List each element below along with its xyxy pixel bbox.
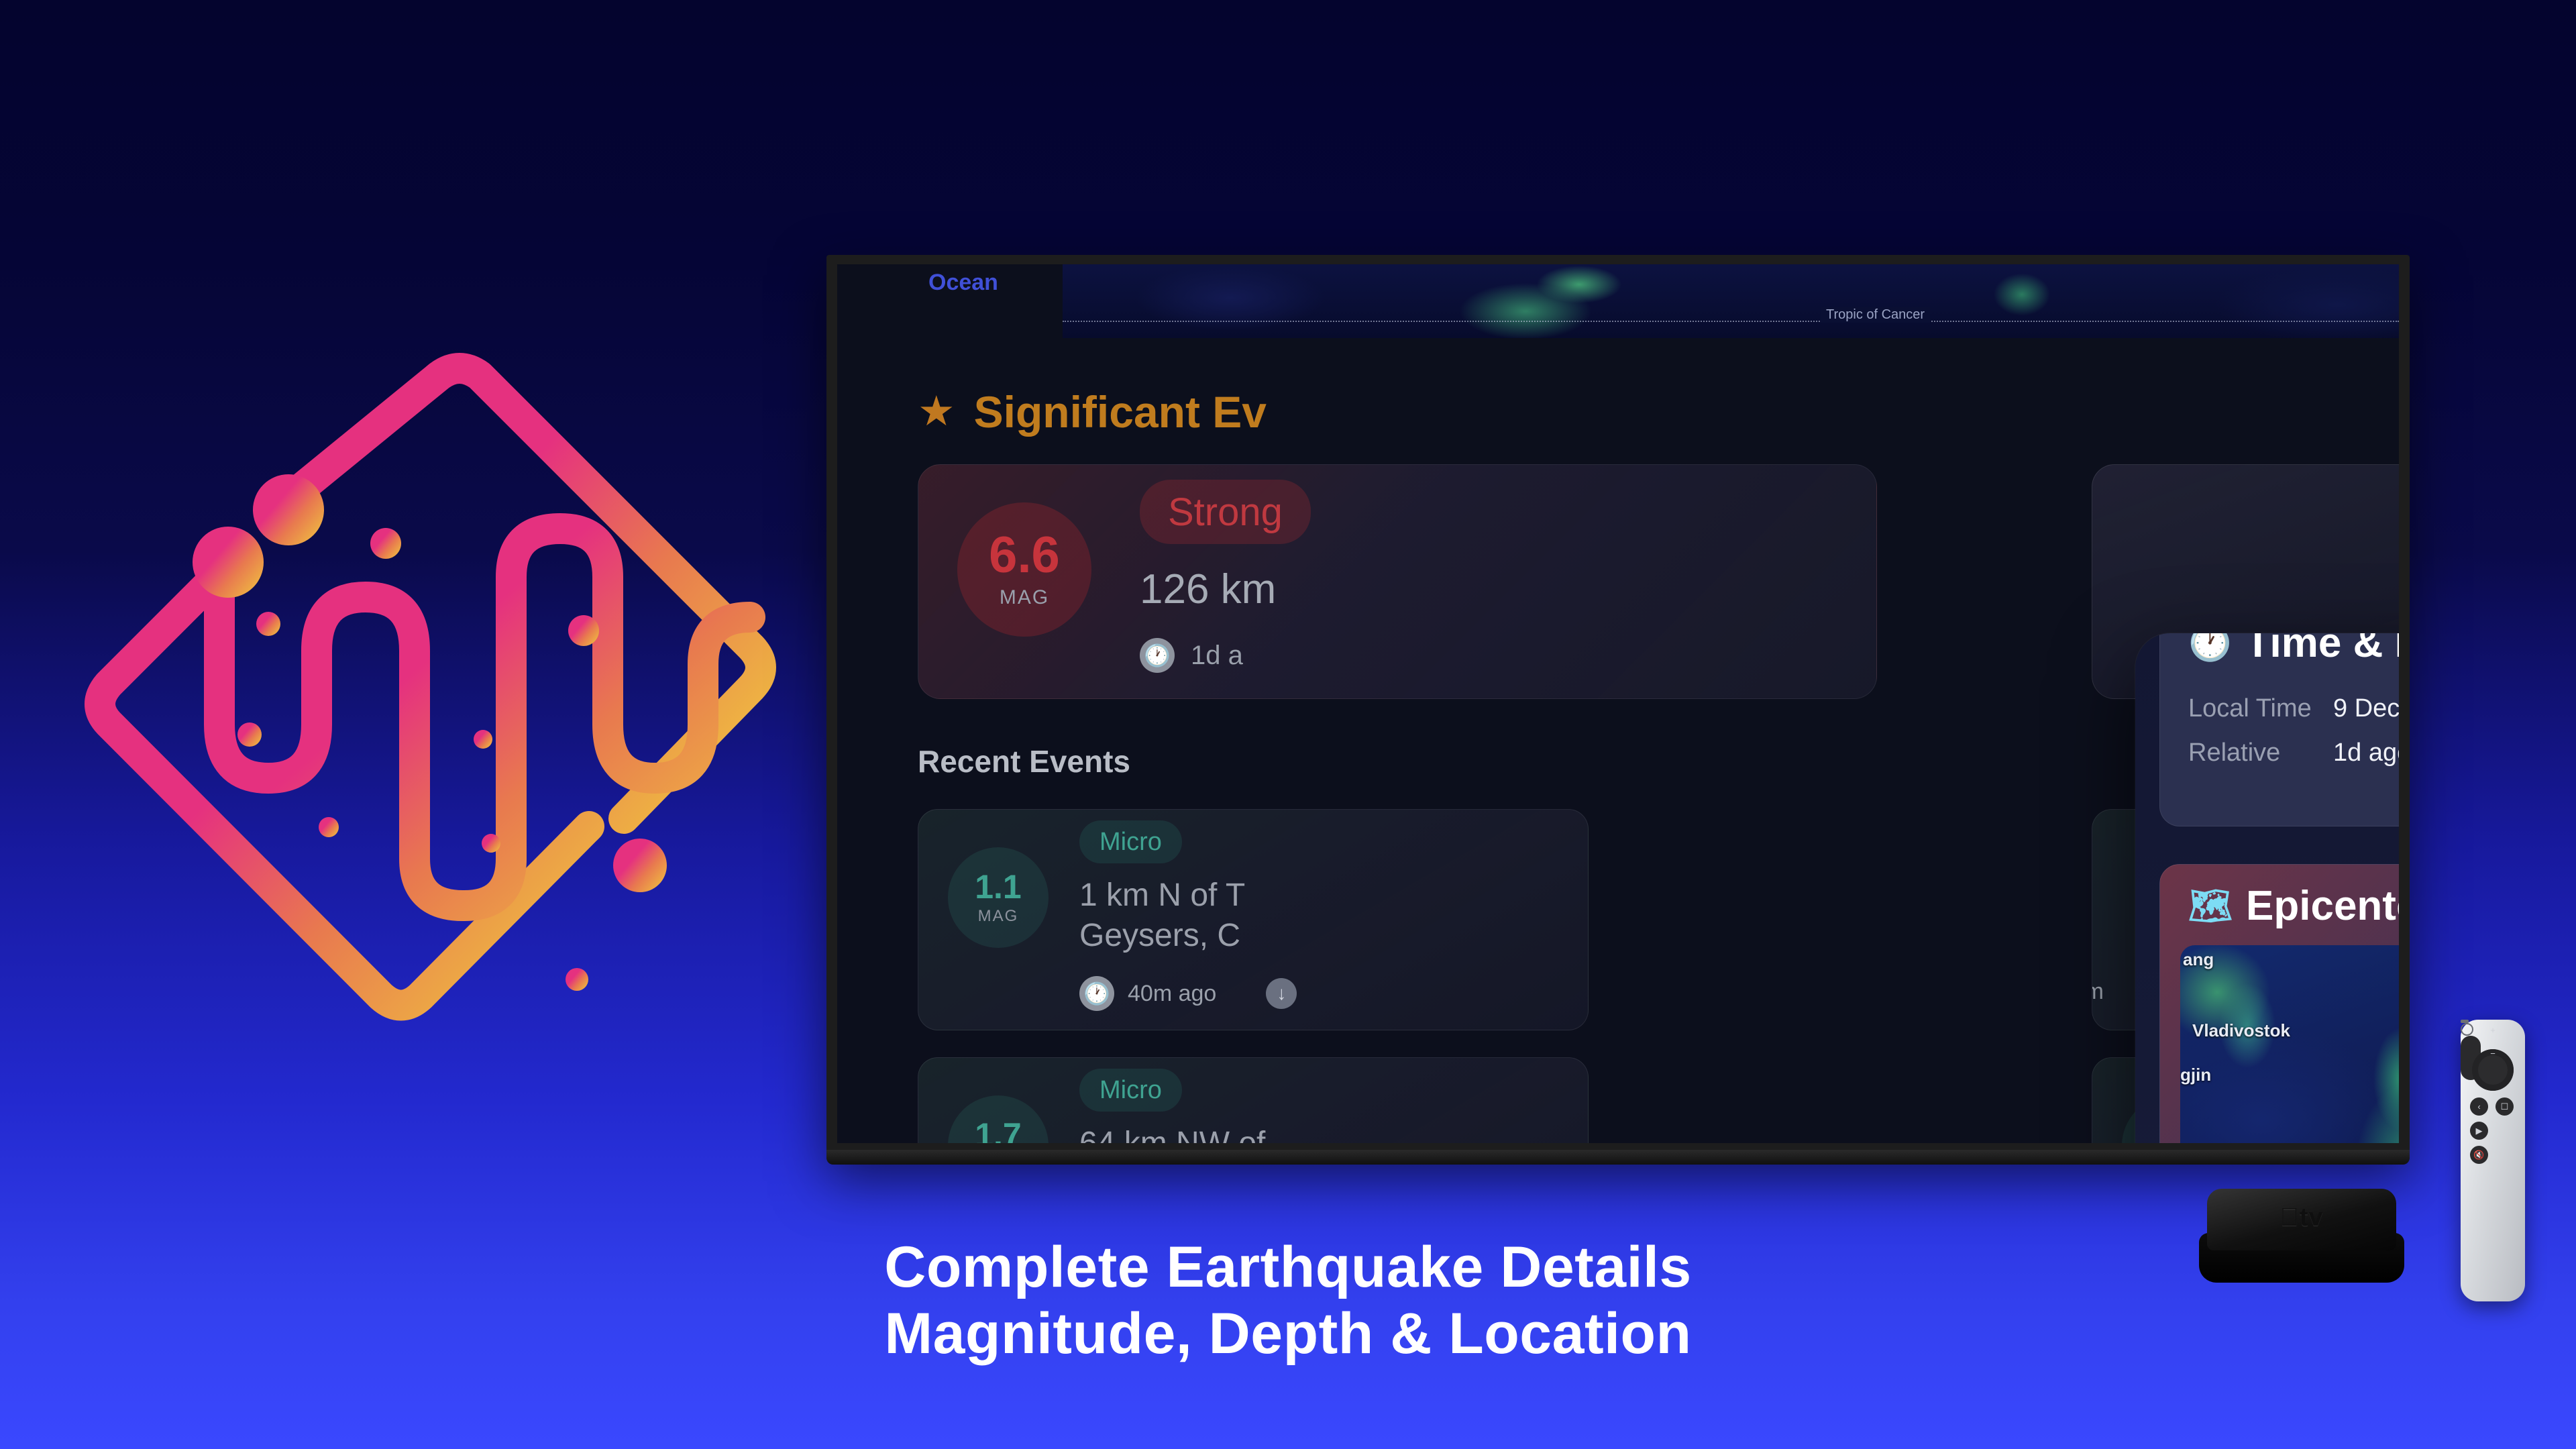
play-pause-button[interactable]: ▶ <box>2470 1122 2488 1140</box>
star-icon: ★ <box>918 391 955 433</box>
recent-events-heading: Recent Events <box>918 743 1130 780</box>
map-label-ang: ang <box>2183 949 2214 970</box>
list-item[interactable]: 1.1 MAG Micro 1 km N of T Geysers, C 🕐 4… <box>918 809 1589 1030</box>
severity-badge: Micro <box>1079 820 1182 863</box>
severity-badge: Micro <box>1079 1069 1182 1112</box>
promo-caption: Complete Earthquake Details Magnitude, D… <box>0 1234 2576 1367</box>
magnitude-bubble: 1.7 MAG <box>948 1095 1049 1143</box>
tv-frame: Ocean Tropic of Cancer ★ Significant Ev … <box>826 255 2410 1161</box>
event-location: 64 km NW of <box>1079 1124 1574 1143</box>
relative-key: Relative <box>2188 739 2333 767</box>
ocean-label: Ocean <box>928 270 998 296</box>
tv-bottom-bezel <box>826 1150 2410 1165</box>
significant-events-header: ★ Significant Ev <box>918 386 1267 437</box>
tv-screen: Ocean Tropic of Cancer ★ Significant Ev … <box>837 264 2399 1143</box>
magnitude-label: MAG <box>1000 586 1049 609</box>
mute-button[interactable]: 🔇 <box>2470 1146 2488 1164</box>
significant-event-card[interactable]: 6.6 MAG Strong 126 km 🕐 1d a <box>918 464 1877 699</box>
event-meta: ↓ 40.2 km <box>2092 976 2104 1007</box>
list-item[interactable]: 1.7 MAG Micro 64 km NW of <box>918 1057 1589 1143</box>
clock-icon: 🕐 <box>2188 633 2232 661</box>
magnitude-value: 6.6 <box>989 530 1060 581</box>
tropic-of-cancer-line <box>1063 321 2399 322</box>
caption-line-2: Magnitude, Depth & Location <box>0 1301 2576 1367</box>
back-button[interactable]: ‹ <box>2470 1097 2488 1116</box>
depth-arrow-icon: ↓ <box>1266 978 1297 1009</box>
clock-icon: 🕐 <box>1140 638 1175 673</box>
magnitude-bubble: 1.1 MAG <box>948 847 1049 948</box>
local-time-row: Local Time 9 Dec 2025 at 04:52:41 <box>2188 694 2399 723</box>
apple-tv-wordmark: tv <box>2300 1203 2324 1232</box>
clock-icon: 🕐 <box>1079 976 1114 1011</box>
event-meta: 🕐 40m ago ↓ <box>1079 976 1297 1011</box>
caption-line-1: Complete Earthquake Details <box>0 1234 2576 1301</box>
map-label-gjin: gjin <box>2180 1065 2211 1085</box>
card-title: Time & Date <box>2245 633 2399 667</box>
epicenter-title-row: 🗺 Epicenter <box>2188 882 2399 930</box>
world-map-strip: Ocean Tropic of Cancer <box>1063 264 2399 338</box>
map-icon: 🗺 <box>2188 889 2233 924</box>
relative-time-row: Relative 1d ago <box>2188 739 2399 767</box>
apple-tv-box: tv <box>2199 1189 2404 1285</box>
event-location: 1 km N of T Geysers, C <box>1079 875 1574 956</box>
tropic-of-cancer-label: Tropic of Cancer <box>1821 307 1930 323</box>
tv-home-button[interactable]: ☐ <box>2495 1097 2514 1116</box>
event-time-ago: 1d a <box>1191 641 1243 671</box>
app-logo <box>67 349 792 1073</box>
apple-tv-logo: tv <box>2199 1203 2404 1232</box>
significant-events-title: Significant Ev <box>974 386 1267 437</box>
epicenter-map[interactable]: ang Vladivostok gjin Sapporo Vityaz Dept… <box>2180 945 2399 1143</box>
earthquake-detail-modal[interactable]: 🕐 Time & Date Local Time 9 Dec 2025 at 0… <box>2135 633 2399 1143</box>
event-location: 126 km <box>1140 566 1276 613</box>
magnitude-value: 1.1 <box>975 870 1022 904</box>
magnitude-label: MAG <box>978 907 1019 926</box>
magnitude-bubble: 6.6 MAG <box>957 502 1091 637</box>
local-time-key: Local Time <box>2188 694 2333 723</box>
relative-value: 1d ago <box>2333 739 2399 767</box>
card-title: Epicenter <box>2246 882 2399 930</box>
time-and-date-title-row: 🕐 Time & Date <box>2188 633 2399 667</box>
time-and-date-card: 🕐 Time & Date Local Time 9 Dec 2025 at 0… <box>2159 633 2399 826</box>
event-meta: 🕐 1d a <box>1140 638 1243 673</box>
severity-badge: Strong <box>1140 480 1311 544</box>
siri-remote[interactable]: ‹ ☐ ▶ 🔇 + − <box>2461 1020 2525 1301</box>
local-time-value: 9 Dec 2025 at 04:52:41 <box>2333 694 2399 723</box>
event-depth: 40.2 km <box>2092 979 2104 1005</box>
magnitude-value: 1.7 <box>975 1118 1022 1144</box>
event-time-ago: 40m ago <box>1128 981 1216 1007</box>
epicenter-card: 🗺 Epicenter ang Vladivostok gjin Sapporo… <box>2159 864 2399 1143</box>
map-label-vladivostok: Vladivostok <box>2192 1020 2290 1041</box>
